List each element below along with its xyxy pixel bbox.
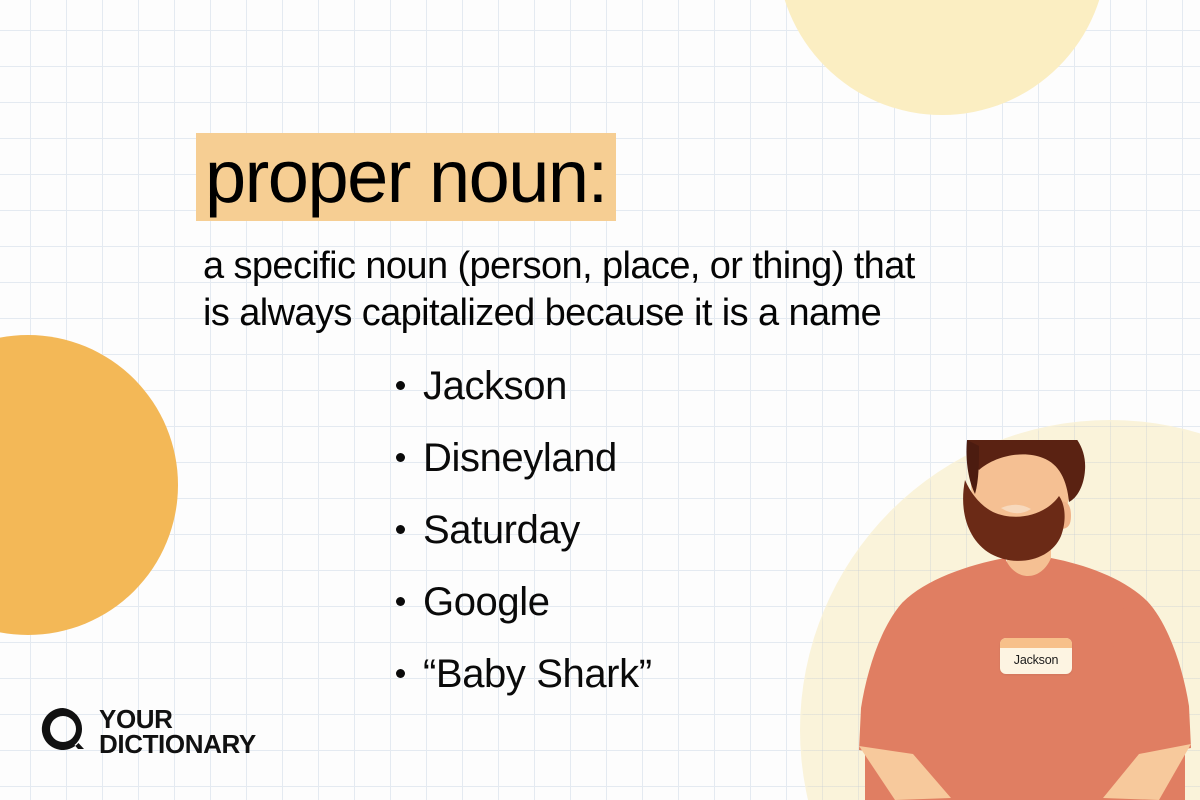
list-item: Jackson — [396, 364, 652, 436]
definition-line-2: is always capitalized because it is a na… — [203, 290, 1073, 337]
logo-wordmark: YOUR DICTIONARY — [99, 707, 256, 757]
definition-line-1: a specific noun (person, place, or thing… — [203, 243, 1073, 290]
list-item: Google — [396, 580, 652, 652]
nametag-strip — [1000, 638, 1072, 648]
list-item: Saturday — [396, 508, 652, 580]
q-ring-icon — [40, 706, 86, 757]
bullet-dot-icon — [396, 597, 405, 606]
bullet-dot-icon — [396, 669, 405, 678]
list-item: Disneyland — [396, 436, 652, 508]
bullet-dot-icon — [396, 381, 405, 390]
bullet-dot-icon — [396, 453, 405, 462]
example-label: Saturday — [423, 508, 580, 552]
yourdictionary-logo[interactable]: YOUR DICTIONARY — [40, 706, 256, 757]
example-label: Google — [423, 580, 550, 624]
definition-text: a specific noun (person, place, or thing… — [203, 243, 1073, 337]
content-block: proper noun: a specific noun (person, pl… — [0, 0, 1200, 800]
example-label: Disneyland — [423, 436, 617, 480]
nametag-name: Jackson — [1000, 648, 1072, 673]
term-title-wrap: proper noun: — [196, 133, 616, 221]
page-title: proper noun: — [196, 133, 616, 221]
example-label: “Baby Shark” — [423, 652, 652, 696]
example-label: Jackson — [423, 364, 567, 408]
logo-line-1: YOUR — [99, 707, 256, 732]
examples-list: Jackson Disneyland Saturday Google “Baby… — [396, 364, 652, 724]
list-item: “Baby Shark” — [396, 652, 652, 724]
bullet-dot-icon — [396, 525, 405, 534]
infographic-canvas: Jackson proper noun: a specific noun (pe… — [0, 0, 1200, 800]
logo-line-2: DICTIONARY — [99, 732, 256, 757]
nametag: Jackson — [1000, 638, 1072, 674]
